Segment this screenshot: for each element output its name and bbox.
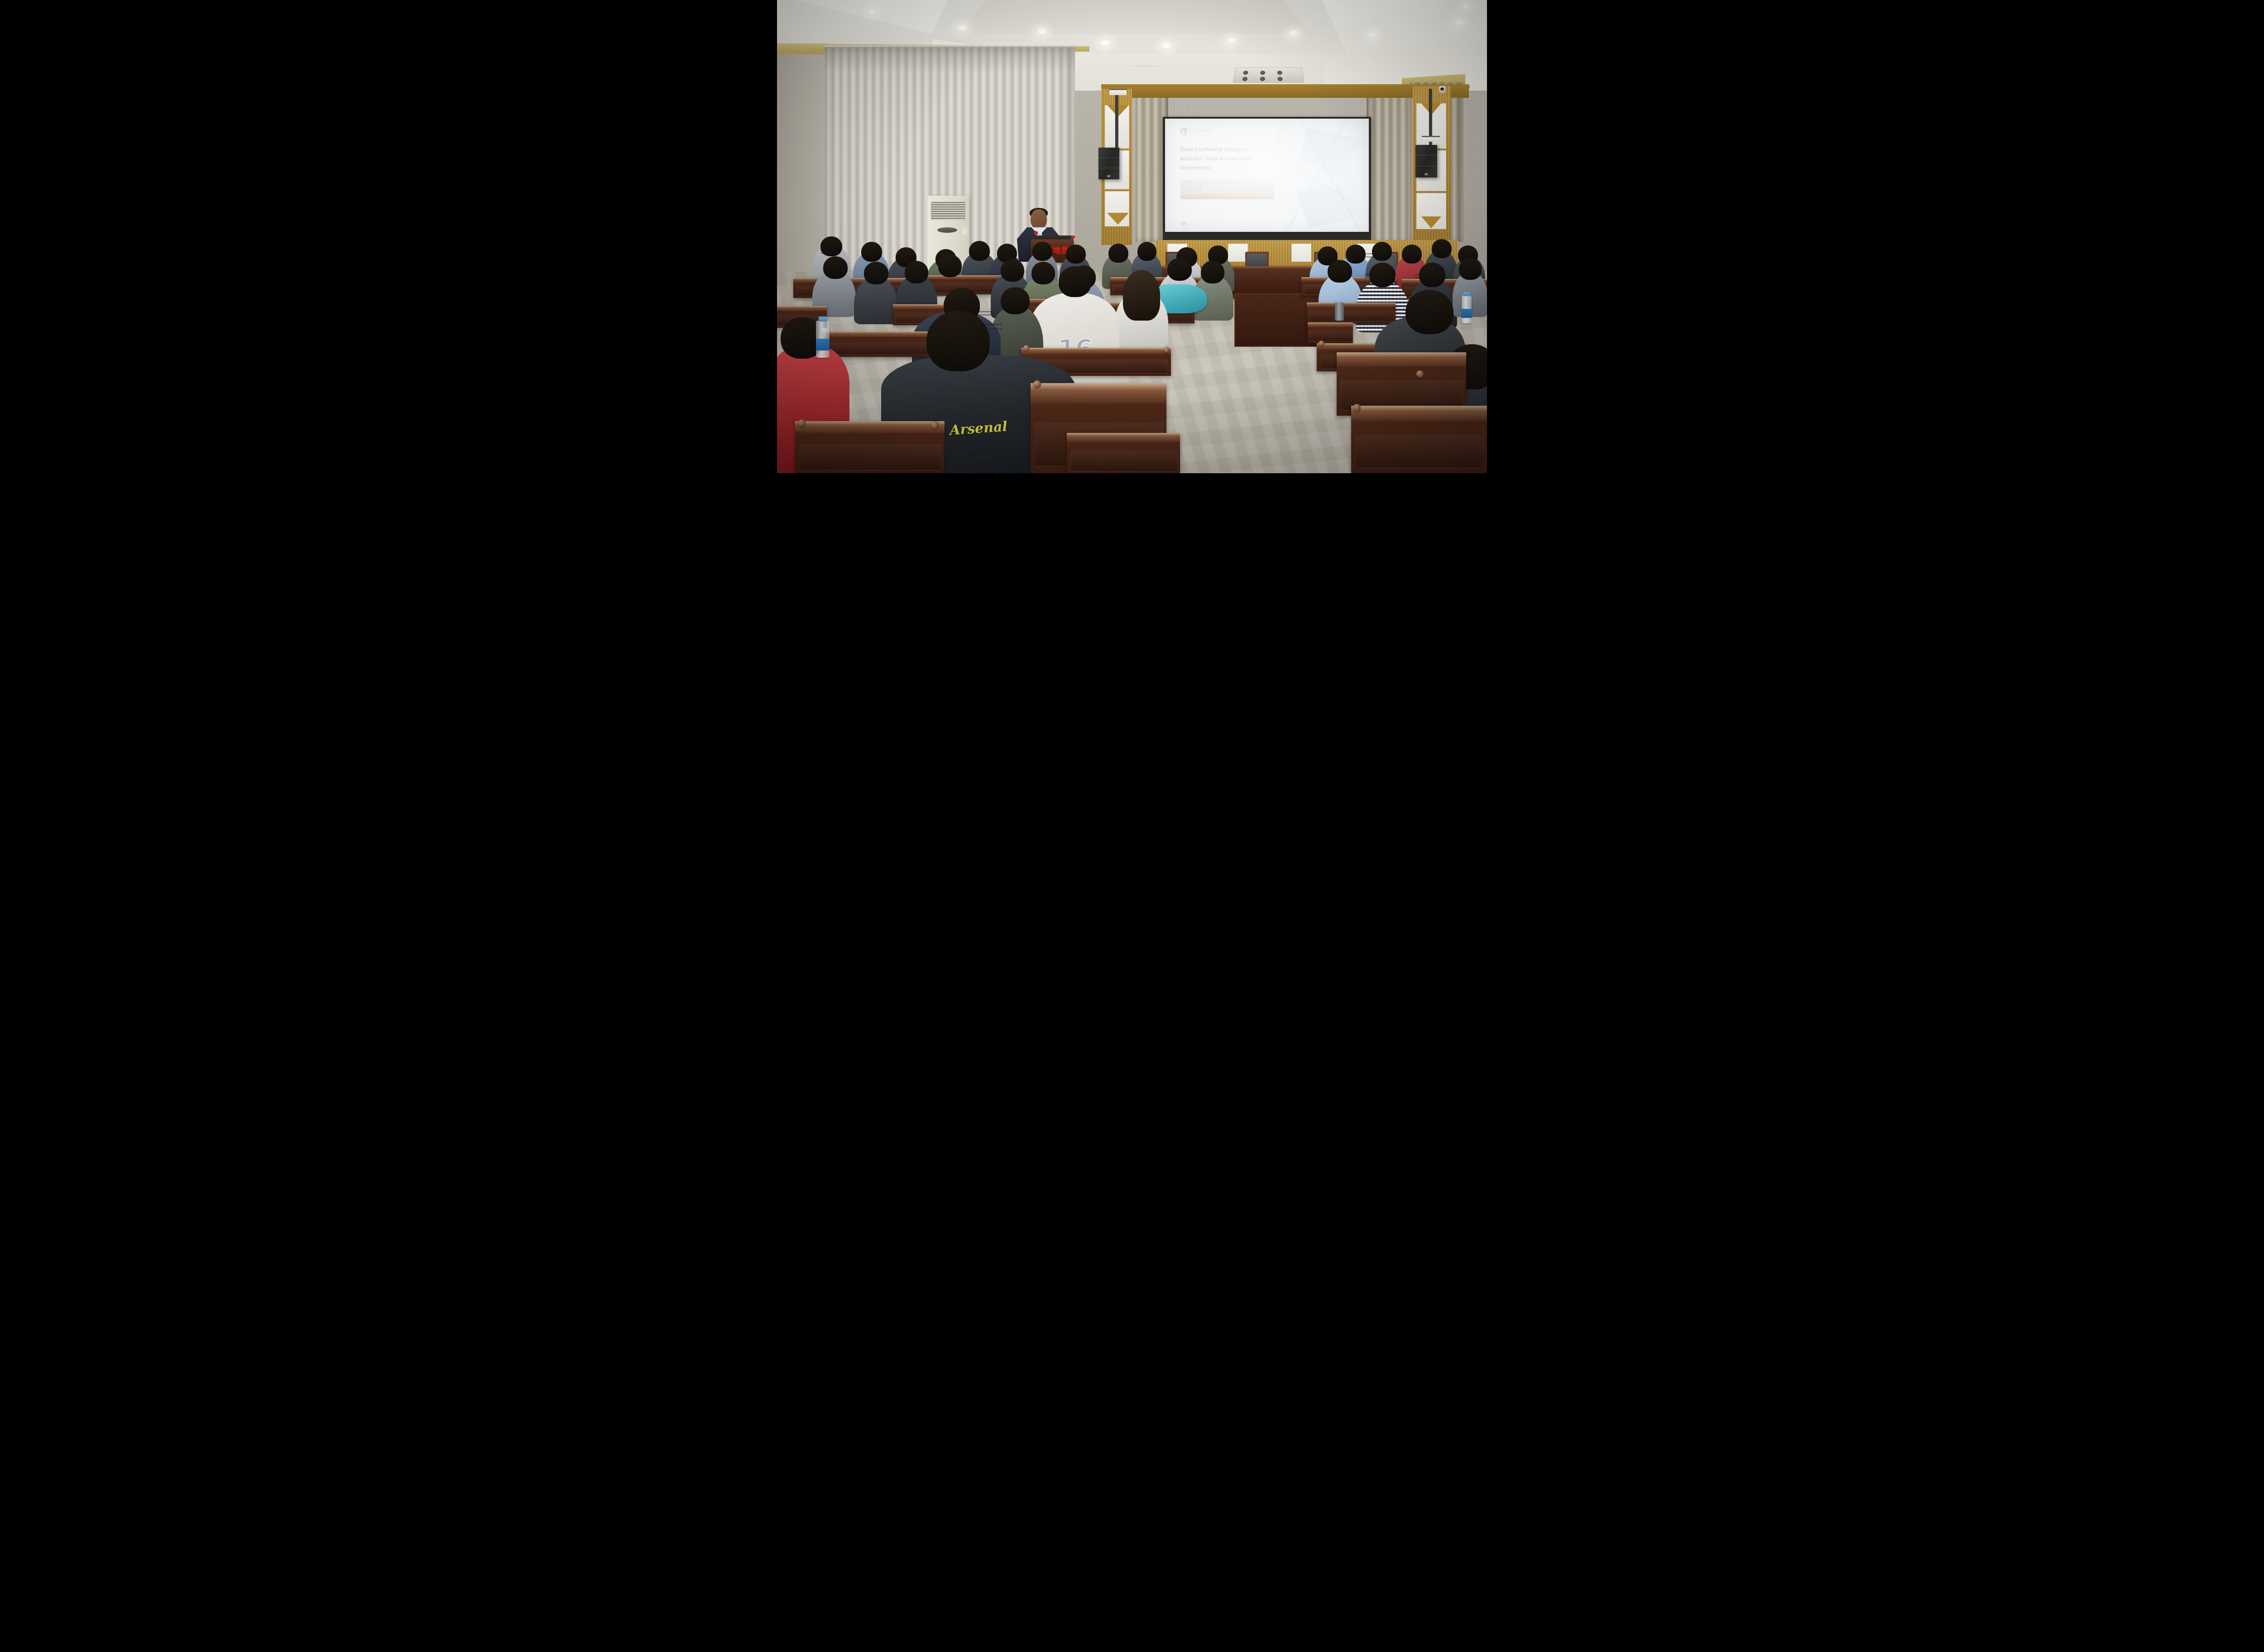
arsenal-script-logo: Arsenal [949, 419, 1008, 439]
group-of-eight-logo: GROUP OF EIGHT [1180, 221, 1199, 226]
bottle-cap [819, 317, 827, 322]
water-bottle [816, 321, 830, 358]
audience-head [1167, 258, 1192, 281]
eyeglasses-icon [1366, 254, 1379, 257]
audience-long-hair [1123, 270, 1160, 321]
desk-knob [1319, 341, 1324, 346]
audience-head [1059, 266, 1091, 297]
audience-head [1459, 258, 1482, 280]
wall-speaker-left: itC [1098, 148, 1119, 179]
student-desk [1307, 303, 1396, 323]
ac-display-panel[interactable] [937, 227, 957, 233]
monash-subtitle: University [1189, 133, 1213, 135]
monash-wordmark: MONASH [1189, 129, 1213, 133]
slide-photo-strip [1180, 180, 1274, 199]
desk-knob [1023, 345, 1029, 351]
audience-head [1432, 239, 1452, 258]
panel-chair[interactable] [1245, 252, 1269, 268]
wall-speaker-right: itC [1415, 145, 1437, 178]
stage-curtain-right[interactable] [1367, 86, 1410, 243]
ceiling-downlight [1367, 32, 1378, 39]
go8-line2: OF EIGHT [1188, 224, 1199, 226]
audience-head [864, 262, 888, 284]
student-desk [1067, 433, 1180, 473]
shield-crest-icon [1180, 128, 1187, 136]
desk-knob [1416, 370, 1424, 378]
speaker-cap-left [1109, 89, 1127, 95]
desk-knob [931, 421, 939, 429]
ac-energy-label [962, 227, 967, 235]
ceiling-downlight [1036, 28, 1048, 35]
ceiling-downlight [1288, 30, 1300, 37]
eyeglasses-icon [1415, 274, 1430, 278]
audience-head [1001, 287, 1030, 314]
ceiling-downlight [1461, 4, 1471, 10]
ac-louver-vent [931, 202, 965, 220]
student-desk [1308, 322, 1353, 343]
ceiling-downlight [867, 9, 878, 15]
projector-mount [1233, 67, 1305, 83]
desk-knob [1164, 347, 1170, 353]
ceiling-downlight [1225, 37, 1237, 44]
audience-head [1108, 244, 1128, 263]
presenter-head [1031, 209, 1047, 229]
monash-logo: MONASH University [1180, 128, 1213, 136]
eyeglasses-icon [820, 250, 837, 254]
eyeglasses-icon [978, 312, 995, 315]
ceiling-downlight [1099, 40, 1111, 47]
audience-head [1137, 242, 1156, 261]
panel-white-insert [1291, 244, 1311, 262]
speaker-brand-label: itC [1107, 175, 1110, 178]
bottle-label [816, 339, 830, 351]
lecture-hall-scene: itC itC MONASH University Deep Geotherma… [777, 0, 1487, 473]
chevron-accent [1107, 213, 1129, 225]
ceiling-recess-inner [958, 0, 1311, 34]
ceiling-downlight [1453, 19, 1465, 26]
audience-head [1346, 245, 1366, 264]
water-bottle [1462, 295, 1472, 323]
student-desk [795, 421, 945, 473]
audience-head [823, 256, 848, 279]
eyeglasses-icon [1364, 274, 1379, 278]
audience-head [1402, 245, 1422, 264]
eyeglasses-icon [982, 324, 1002, 329]
slide-title: Deep Geothermal Energy in Australia : Fi… [1180, 146, 1286, 173]
audience-head [1372, 242, 1392, 261]
audience-head [1066, 245, 1086, 264]
audience-head [1001, 259, 1024, 282]
desk-knob [1033, 380, 1041, 388]
thermos-flask [1335, 303, 1344, 321]
eyeglasses-icon [1410, 304, 1428, 308]
bottle-label [1462, 309, 1472, 318]
audience-head [1405, 290, 1453, 334]
desk-knob [1353, 404, 1361, 412]
projection-screen[interactable]: MONASH University Deep Geothermal Energy… [1165, 119, 1369, 232]
audience-head [926, 311, 990, 371]
audience-head [969, 241, 990, 261]
audience-head [1201, 261, 1224, 283]
bottle-cap [1463, 292, 1470, 296]
audience-head [861, 242, 882, 262]
ceiling-downlight [956, 24, 968, 32]
student-desk [824, 331, 937, 357]
speaker-brand-label: itC [1425, 173, 1428, 176]
chevron-accent [1421, 216, 1441, 228]
audience-head [1328, 260, 1352, 283]
speaker-cap-right [1422, 136, 1440, 142]
audience-head [1031, 262, 1055, 284]
audience-head [1032, 242, 1052, 261]
security-camera-icon [1439, 86, 1445, 93]
audience-head [905, 261, 928, 283]
australia-map-icon [1180, 221, 1187, 226]
ceiling-downlight [1161, 43, 1172, 49]
audience-head [938, 255, 962, 277]
student-desk [1351, 406, 1487, 473]
desk-knob [798, 419, 806, 427]
